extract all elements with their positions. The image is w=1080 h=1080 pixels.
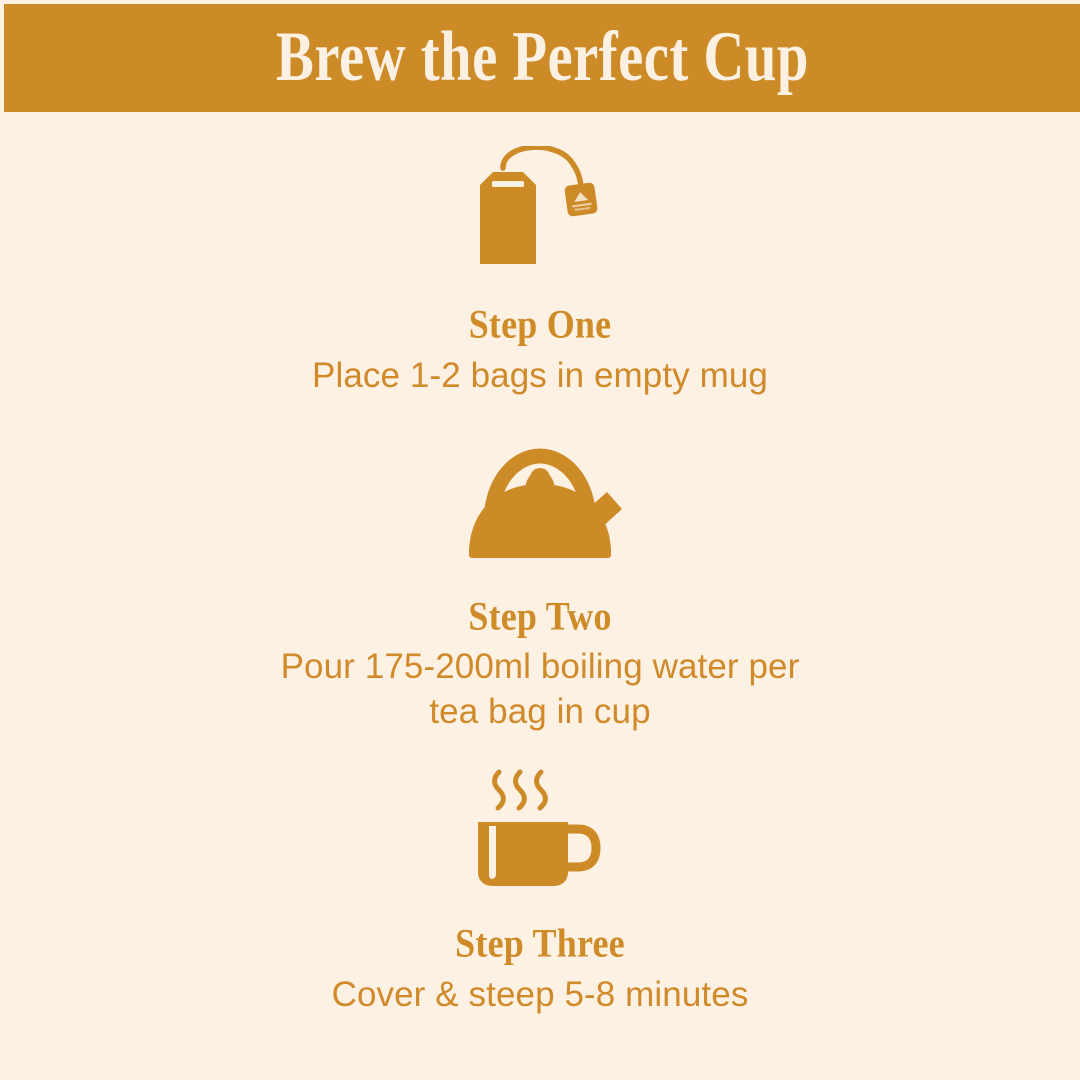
step-two-description-line-2: tea bag in cup [0,689,1080,735]
step-two-description-line-1: Pour 175-200ml boiling water per [0,644,1080,690]
step-three-description: Cover & steep 5-8 minutes [0,972,1080,1018]
step-three-title: Step Three [0,923,1080,965]
tea-bag-icon [465,146,615,276]
steaming-mug-icon [465,762,615,892]
step-three: Step Three Cover & steep 5-8 minutes [0,762,1080,1017]
step-two: Step Two Pour 175-200ml boiling water pe… [0,430,1080,735]
step-two-title: Step Two [0,596,1080,638]
step-one-description: Place 1-2 bags in empty mug [0,353,1080,399]
step-one: Step One Place 1-2 bags in empty mug [0,146,1080,398]
steps-container: Step One Place 1-2 bags in empty mug [0,112,1080,1080]
step-three-description-line-1: Cover & steep 5-8 minutes [0,972,1080,1018]
tea-bag-tag-icon [564,182,598,217]
kettle-icon [455,430,625,566]
step-one-description-line-1: Place 1-2 bags in empty mug [0,353,1080,399]
infographic-poster: Brew the Perfect Cup [0,0,1080,1080]
step-two-icon-wrap [0,430,1080,566]
step-three-icon-wrap [0,762,1080,892]
steam-icon [495,772,546,808]
step-one-title: Step One [0,304,1080,346]
page-title: Brew the Perfect Cup [276,22,809,93]
step-two-description: Pour 175-200ml boiling water per tea bag… [0,644,1080,735]
step-one-icon-wrap [0,146,1080,276]
header-banner: Brew the Perfect Cup [4,4,1080,112]
